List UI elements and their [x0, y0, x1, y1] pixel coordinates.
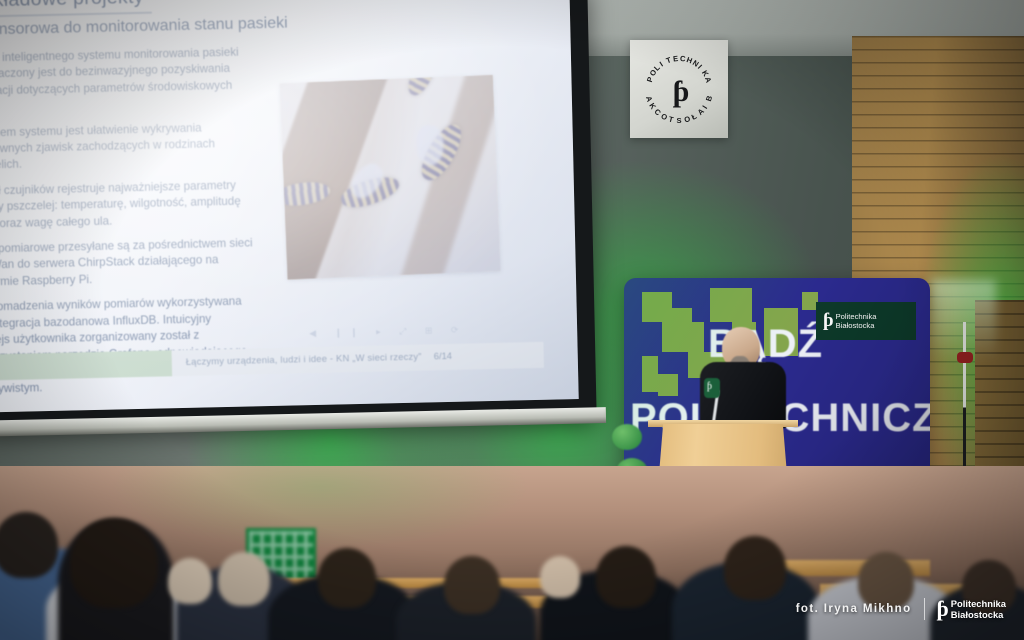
- wall-logo-ring: ƥ POLITECHNIKABIAŁOSTOCKA: [641, 51, 717, 127]
- wall-logo-arc-char: S: [677, 116, 682, 125]
- slide-bullet: Zespół czujników rejestruje najważniejsz…: [0, 177, 253, 233]
- wall-logo-arc-char: E: [673, 54, 679, 64]
- wall-logo-arc-char: T: [665, 55, 672, 65]
- watermark-logo-text: Politechnika Białostocka: [951, 598, 1006, 621]
- pb-monogram-icon: ƥ: [937, 596, 945, 622]
- banner-pixel-block: [672, 308, 692, 352]
- banner-pixel-block: [642, 356, 658, 392]
- photograph-scene: ƥ POLITECHNIKABIAŁOSTOCKA Przykładowe pr…: [0, 0, 1024, 640]
- slide-bullet-text: Zadaniem systemu jest ułatwienie wykrywa…: [0, 121, 215, 172]
- slide-bullet: Projekt inteligentnego systemu monitorow…: [0, 44, 250, 116]
- microphone-windscreen: ƥ: [704, 378, 720, 398]
- audience-member: [318, 548, 376, 608]
- audience-member: [168, 558, 212, 604]
- audience-member: [540, 556, 580, 598]
- slide-subtitle: Sieć sensorowa do monitorowania stanu pa…: [0, 15, 288, 41]
- slide-bullet-text: Zespół czujników rejestruje najważniejsz…: [0, 179, 241, 231]
- photo-watermark: fot. Iryna Mikhno ƥ Politechnika Białost…: [796, 596, 1006, 622]
- presentation-slide: Przykładowe projekty Sieć sensorowa do m…: [0, 0, 579, 413]
- audience-member: [70, 518, 158, 608]
- balloon: [612, 424, 642, 450]
- slide-bullet-text: Do gromadzenia wyników pomiarów wykorzys…: [0, 295, 247, 396]
- watermark-university-logo: ƥ Politechnika Białostocka: [937, 596, 1006, 622]
- pb-monogram-icon: ƥ: [823, 310, 831, 332]
- banner-pixel-block: [764, 308, 798, 356]
- pdf-viewer-toolbar-ghost: ◀ ❙❙ ▸ ⤢ ⊞ ⟳: [309, 325, 467, 340]
- light-stand-lamp: [957, 352, 973, 363]
- audience-member: [724, 536, 786, 600]
- slide-bullet: Do gromadzenia wyników pomiarów wykorzys…: [0, 294, 256, 399]
- slide-bullet-text: Dane pomiarowe przesyłane są za pośredni…: [0, 236, 253, 288]
- banner-logo-line1: Politechnika: [836, 312, 877, 321]
- projector-wash-overlay: [280, 75, 501, 279]
- slide-title: Przykładowe projekty: [0, 0, 144, 13]
- photo-credit: fot. Iryna Mikhno: [796, 603, 912, 615]
- slide-page-number: 6/14: [434, 350, 452, 361]
- slide-bullet: Dane pomiarowe przesyłane są za pośredni…: [0, 235, 254, 291]
- pb-monogram-icon: ƥ: [707, 381, 710, 392]
- slide-bullet-text: Projekt inteligentnego systemu monitorow…: [0, 46, 239, 114]
- watermark-divider: [924, 598, 925, 620]
- banner-pixel-block: [662, 322, 704, 352]
- banner-logo-line2: Białostocka: [836, 321, 875, 330]
- audience-member: [0, 512, 58, 578]
- banner-logo-text: Politechnika Białostocka: [836, 312, 877, 331]
- audience-member: [218, 552, 270, 606]
- slide-bee-photo: [280, 75, 501, 279]
- watermark-logo-line1: Politechnika: [951, 598, 1006, 609]
- slide-bullet: Zadaniem systemu jest ułatwienie wykrywa…: [0, 119, 251, 175]
- audience-member: [596, 546, 656, 608]
- wall-logo-arc-char: Ł: [690, 112, 698, 122]
- audience-member: [444, 556, 500, 614]
- wall-university-logo-plate: ƥ POLITECHNIKABIAŁOSTOCKA: [630, 40, 728, 138]
- banner-pixel-block: [710, 288, 752, 322]
- projection-screen: Przykładowe projekty Sieć sensorowa do m…: [0, 0, 579, 413]
- wall-logo-arc-char: T: [668, 115, 675, 125]
- banner-pixel-block: [802, 292, 818, 310]
- banner-pixel-block: [642, 292, 672, 322]
- banner-pixel-block: [658, 374, 678, 396]
- banner-university-logo: ƥ Politechnika Białostocka: [816, 302, 916, 340]
- watermark-logo-line2: Białostocka: [951, 609, 1004, 620]
